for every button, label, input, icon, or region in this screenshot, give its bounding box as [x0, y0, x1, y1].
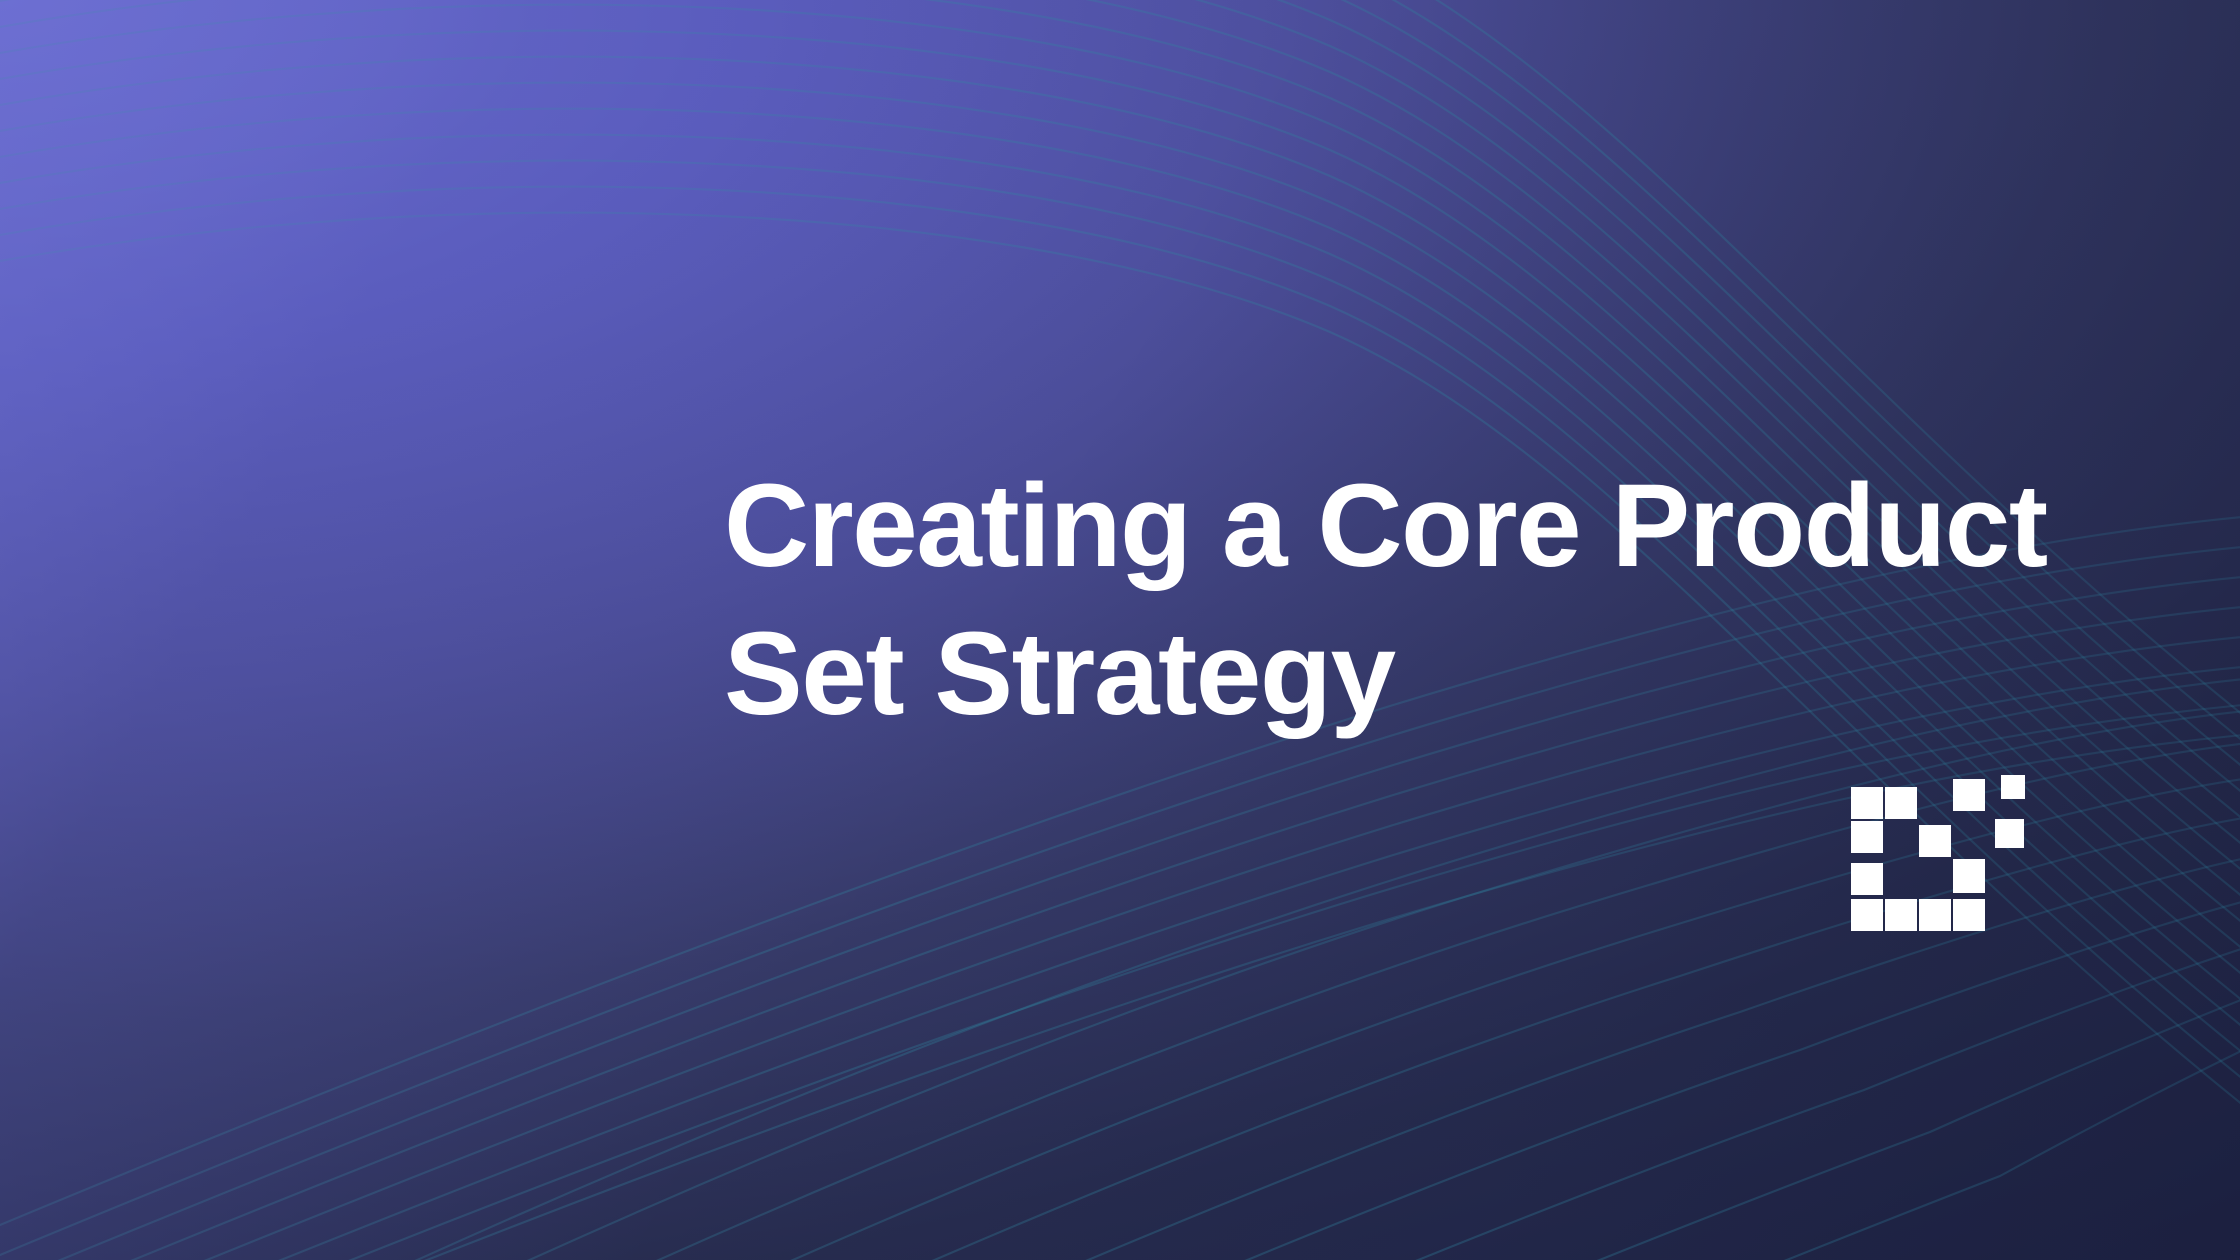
logo-cell-r1c0	[1851, 821, 1883, 853]
logo-cell-r2c3	[1953, 859, 1985, 893]
title-line-1: Creating a Core Product	[724, 452, 2084, 600]
logo-cell-r0c3	[1953, 779, 1985, 811]
title-line-2: Set Strategy	[724, 600, 2084, 748]
logo-cell-r0c1	[1885, 787, 1917, 819]
logo-cell-r3c3	[1953, 899, 1985, 931]
logo-cell-r1c4	[1995, 819, 2024, 848]
logo-cell-r1c2	[1919, 825, 1951, 857]
logo-cell-r0c4	[2001, 775, 2025, 799]
page-title: Creating a Core Product Set Strategy	[724, 452, 2084, 748]
logo-cell-r3c2	[1919, 899, 1951, 931]
title-slide: Creating a Core Product Set Strategy	[0, 0, 2240, 1260]
pixel-grid-logo	[1851, 775, 2041, 950]
logo-cell-r0c0	[1851, 787, 1883, 819]
logo-cell-r3c1	[1885, 899, 1917, 931]
logo-cell-r3c0	[1851, 899, 1883, 931]
logo-cell-r2c0	[1851, 863, 1883, 895]
